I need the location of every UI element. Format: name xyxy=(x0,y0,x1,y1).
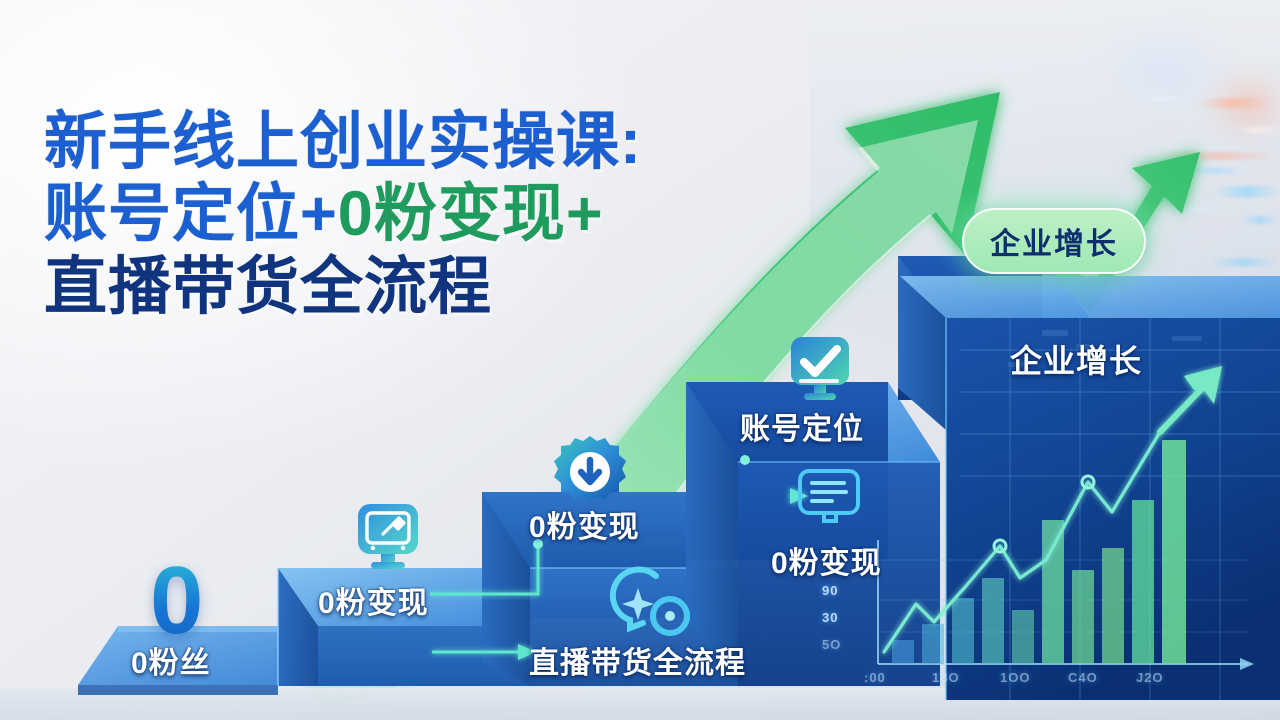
xtick-0: :00 xyxy=(864,670,886,685)
title-line-3: 直播带货全流程 xyxy=(44,255,804,319)
sparkle-pin-icon xyxy=(608,566,694,649)
step-label-4: 企业增长 xyxy=(1010,336,1142,382)
title-line-2: 账号定位+0粉变现+ xyxy=(44,182,804,246)
screen-lines-icon xyxy=(794,466,866,541)
ytick-1: 30 xyxy=(822,610,838,625)
xtick-4: J2O xyxy=(1136,670,1164,685)
ytick-0: 90 xyxy=(822,583,838,598)
step-label-1: 0粉变现 xyxy=(318,578,429,622)
title-line-1: 新手线上创业实操课: xyxy=(44,110,804,174)
step-label-2: 0粉变现 xyxy=(529,502,640,546)
floating-label-0: 直播带货全流程 xyxy=(529,638,746,682)
page-title: 新手线上创业实操课: 账号定位+0粉变现+ 直播带货全流程 xyxy=(44,110,804,327)
xtick-3: C4O xyxy=(1068,670,1098,685)
step-label-0: 0粉丝 xyxy=(131,638,211,682)
title-line-2b: 0粉变现+ xyxy=(338,179,604,249)
floating-label-1: 0粉变现 xyxy=(771,538,882,582)
title-line-2a: 账号定位+ xyxy=(44,179,338,249)
status-badge[interactable]: 企业增长 xyxy=(962,208,1146,274)
ytick-2: 5O xyxy=(822,637,841,652)
poster-canvas: 新手线上创业实操课: 账号定位+0粉变现+ 直播带货全流程 0 xyxy=(0,0,1280,720)
xtick-2: 1OO xyxy=(1000,670,1030,685)
step-label-3: 账号定位 xyxy=(740,404,864,448)
monitor-pen-icon xyxy=(352,498,428,583)
xtick-1: 18O xyxy=(932,670,960,685)
